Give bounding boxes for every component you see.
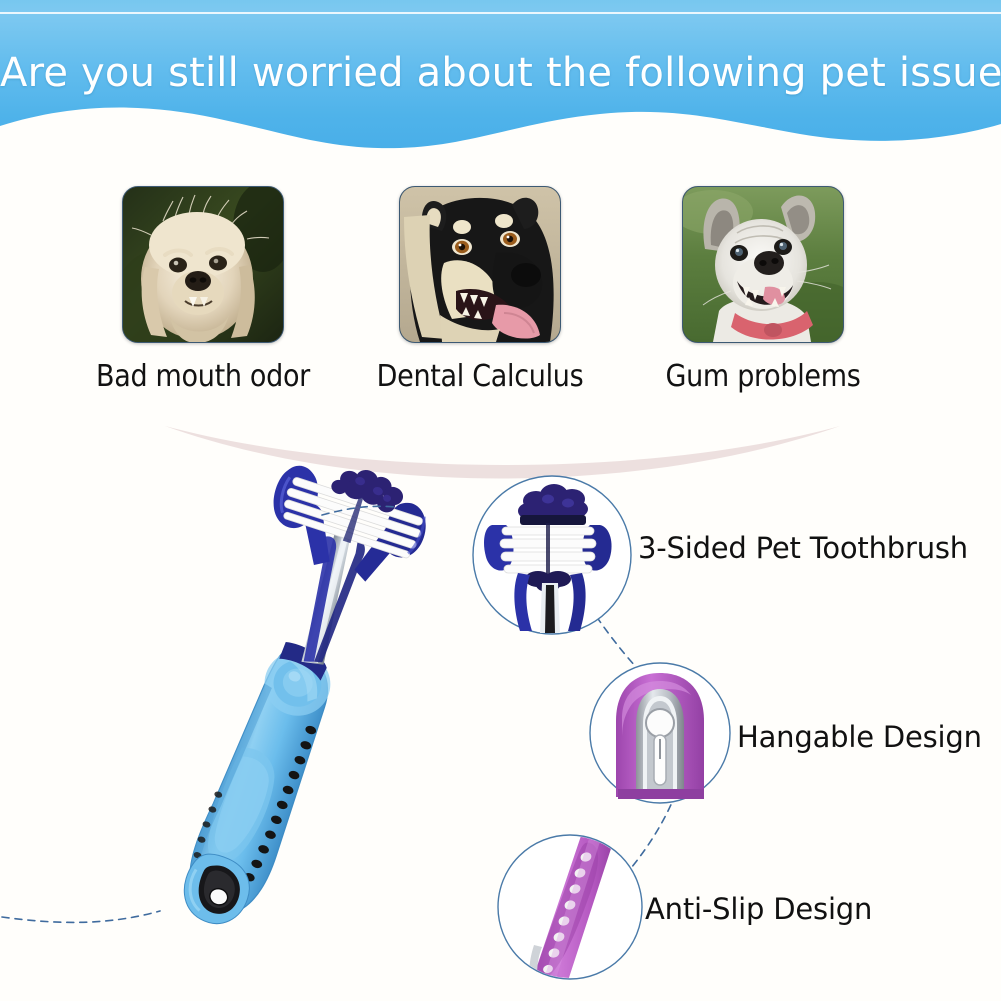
callout-label-3-sided-pet-toothbrush: 3-Sided Pet Toothbrush [638, 531, 968, 565]
infographic-page: Are you still worried about the followin… [0, 0, 1001, 1001]
header-hairline [0, 12, 1001, 14]
callout-circle-3-sided-pet-toothbrush [462, 465, 642, 645]
callout-circle-hangable-design [582, 655, 738, 811]
callout-label-hangable-design: Hangable Design [737, 720, 982, 754]
issue-label: Dental Calculus [355, 359, 605, 394]
shaggy-tan-dog-photo [122, 186, 284, 343]
issue-label: Bad mouth odor [78, 359, 328, 394]
callout-circle-anti-slip-design [490, 827, 650, 987]
feature-callouts: 3-Sided Pet Toothbrush [0, 455, 1001, 1001]
page-title: Are you still worried about the followin… [0, 50, 1001, 96]
black-tan-dog-photo [399, 186, 561, 343]
issue-card-gum-problems: Gum problems [638, 186, 888, 394]
header-banner: Are you still worried about the followin… [0, 0, 1001, 160]
issue-label: Gum problems [638, 359, 888, 394]
french-bulldog-photo [682, 186, 844, 343]
issue-cards-row: Bad mouth odor [0, 186, 1001, 411]
issue-card-bad-mouth-odor: Bad mouth odor [78, 186, 328, 394]
header-wave-shape [0, 96, 1001, 160]
issue-card-dental-calculus: Dental Calculus [355, 186, 605, 394]
callout-label-anti-slip-design: Anti-Slip Design [645, 892, 872, 926]
